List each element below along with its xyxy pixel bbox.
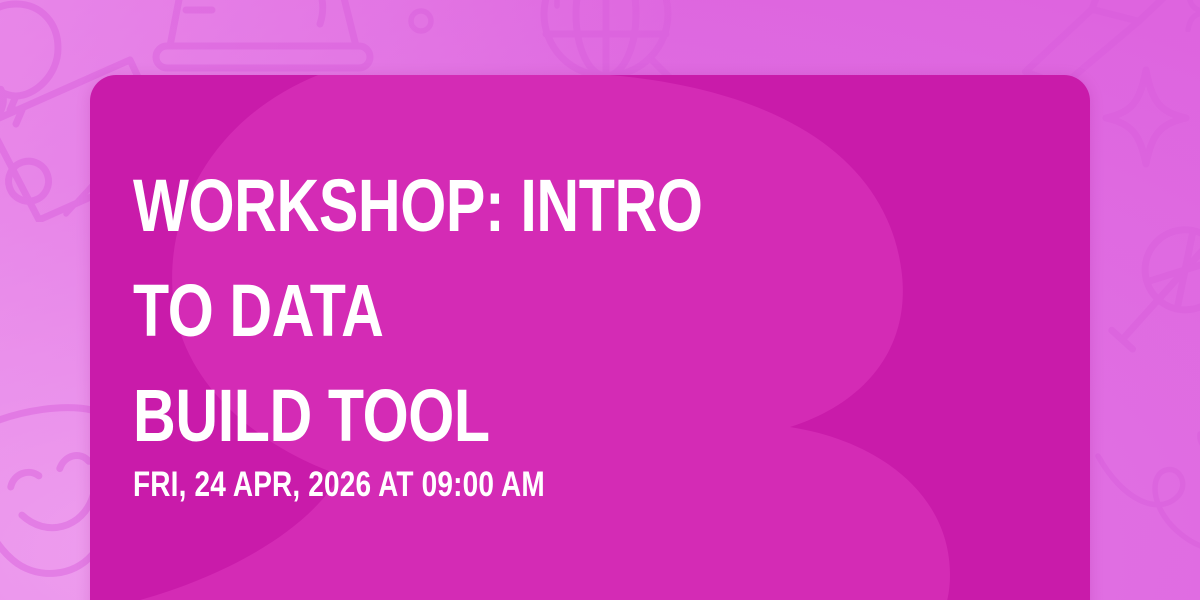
event-title: WORKSHOP: INTRO TO DATA BUILD TOOL (133, 153, 741, 468)
microphone-icon (1104, 222, 1200, 382)
sparkle-icon (1098, 62, 1194, 172)
sparkle-small-icon (1168, 0, 1200, 32)
streamer-swirl-icon (1080, 408, 1200, 600)
circle-dot-icon (406, 6, 436, 36)
balloon-icon (0, 0, 84, 130)
event-datetime: FRI, 24 APR, 2026 AT 09:00 AM (133, 464, 545, 506)
event-poster: WORKSHOP: INTRO TO DATA BUILD TOOL FRI, … (0, 0, 1200, 600)
pin-dot-icon (546, 0, 568, 20)
event-card: WORKSHOP: INTRO TO DATA BUILD TOOL FRI, … (90, 75, 1090, 600)
card-content: WORKSHOP: INTRO TO DATA BUILD TOOL FRI, … (133, 75, 1050, 600)
